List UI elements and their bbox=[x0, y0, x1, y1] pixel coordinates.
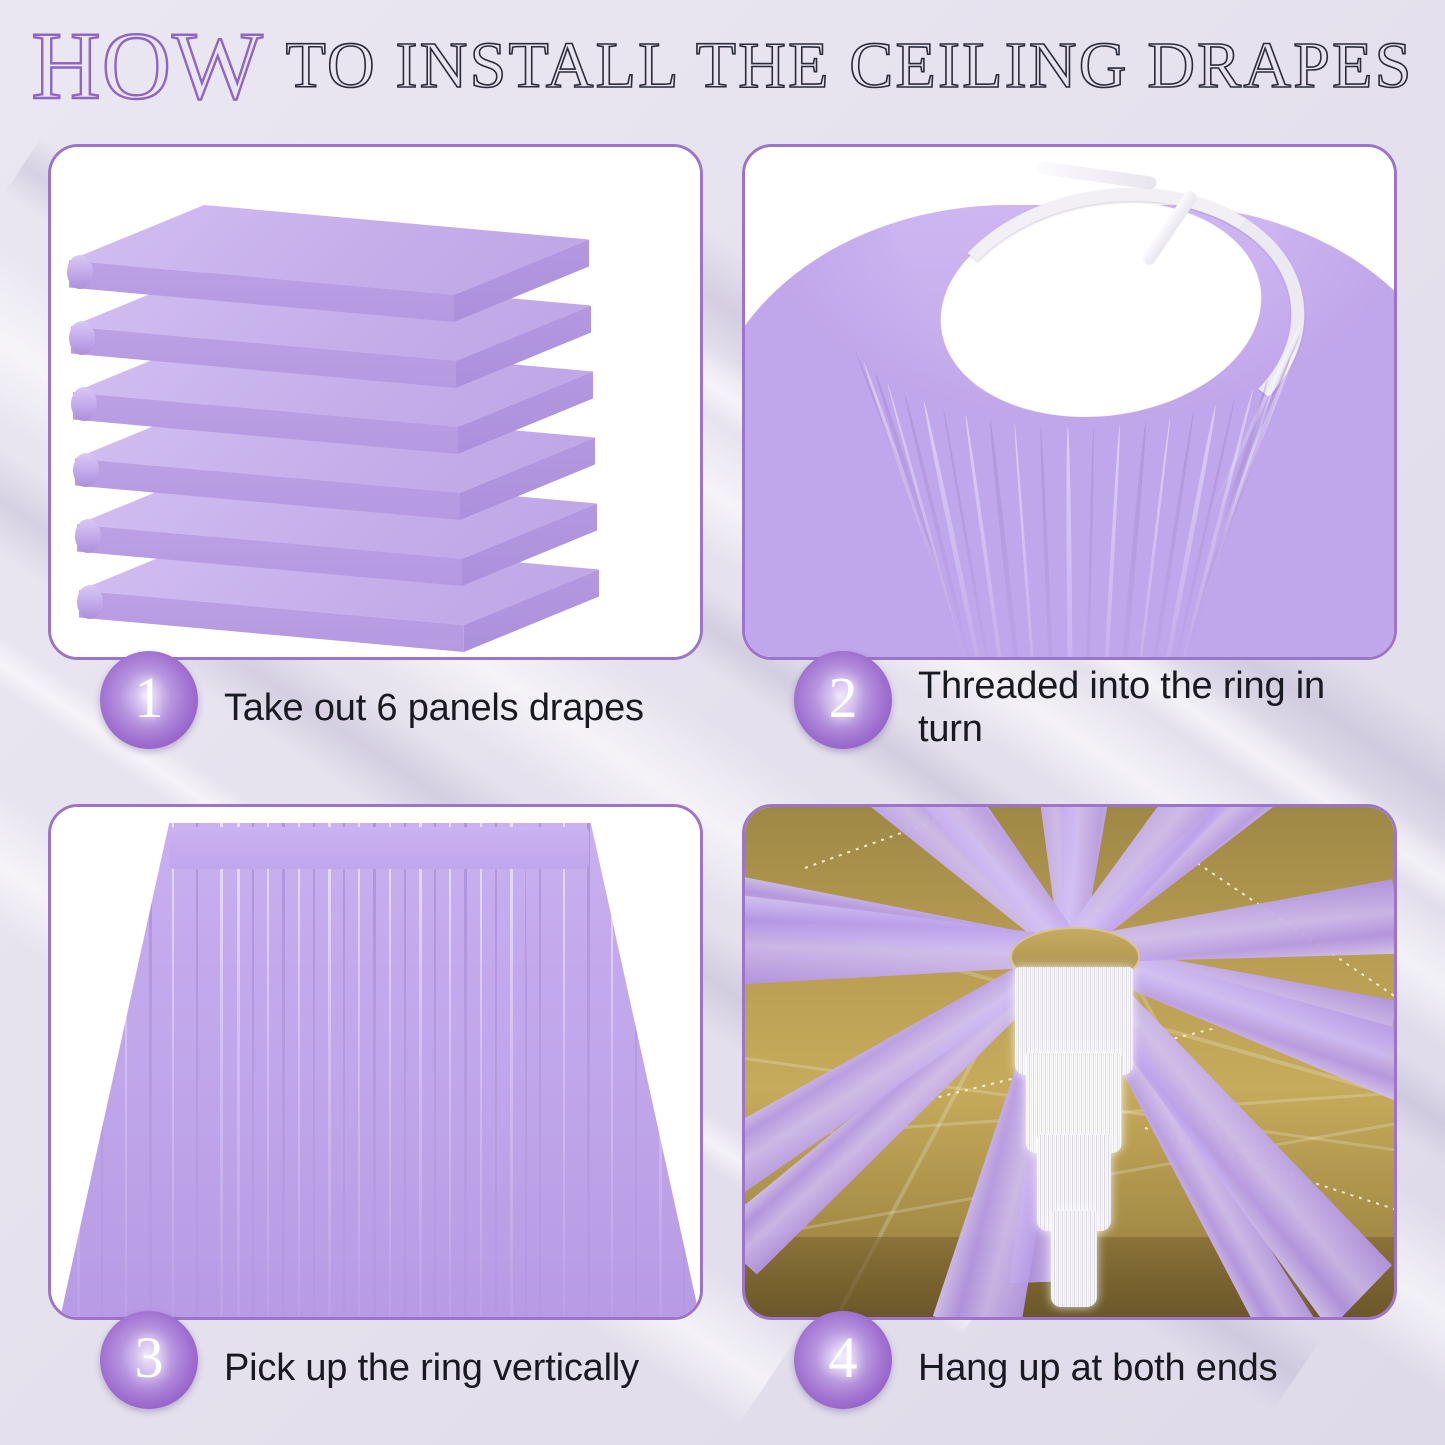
drape-pleat bbox=[419, 823, 422, 1317]
drape-pleat bbox=[313, 823, 315, 1317]
step-1-caption: Take out 6 panels drapes bbox=[224, 660, 644, 756]
title-rest-words: TO INSTALL THE CEILING DRAPES bbox=[286, 33, 1414, 99]
step-1-number: 1 bbox=[135, 669, 164, 732]
drape-pleat bbox=[510, 823, 513, 1317]
fold-edge bbox=[73, 453, 99, 487]
drape-pleat bbox=[495, 823, 497, 1317]
step-3-caption-row: 3 Pick up the ring vertically bbox=[48, 1320, 703, 1416]
drape-panel-slab bbox=[69, 205, 589, 355]
infographic-page: HOW TO INSTALL THE CEILING DRAPES 1 Take… bbox=[0, 0, 1445, 1445]
step-3: 3 Pick up the ring vertically bbox=[48, 804, 703, 1416]
step-3-image-card bbox=[48, 804, 703, 1320]
step-1: 1 Take out 6 panels drapes bbox=[48, 144, 703, 756]
fabric-threaded-on-white-ring-image bbox=[745, 147, 1394, 657]
drape-pleat bbox=[404, 823, 406, 1317]
step-1-image-card bbox=[48, 144, 703, 660]
stacked-folded-drape-panels-image bbox=[51, 147, 700, 657]
page-title: HOW TO INSTALL THE CEILING DRAPES bbox=[0, 18, 1445, 114]
installed-ceiling-drapes-with-chandelier-image bbox=[745, 807, 1394, 1317]
step-2-caption: Threaded into the ring in turn bbox=[918, 660, 1397, 756]
step-2-caption-row: 2 Threaded into the ring in turn bbox=[742, 660, 1397, 756]
step-4: 4 Hang up at both ends bbox=[742, 804, 1397, 1416]
fold-edge bbox=[67, 255, 93, 289]
step-3-caption: Pick up the ring vertically bbox=[224, 1320, 639, 1416]
drape-pleat bbox=[343, 823, 345, 1317]
step-1-badge: 1 bbox=[100, 651, 198, 749]
drape-pleat bbox=[220, 823, 223, 1317]
step-2-image-card bbox=[742, 144, 1397, 660]
drape-pleat bbox=[328, 823, 331, 1317]
drape-pleat bbox=[282, 823, 285, 1317]
step-3-number: 3 bbox=[135, 1329, 164, 1392]
drape-pleat bbox=[389, 823, 391, 1317]
title-highlight-word: HOW bbox=[31, 18, 285, 114]
step-4-caption: Hang up at both ends bbox=[918, 1320, 1277, 1416]
drape-pleat bbox=[172, 823, 174, 1317]
fold-edge bbox=[71, 387, 97, 421]
drape-pleat bbox=[196, 823, 198, 1317]
fold-edge bbox=[69, 321, 95, 355]
drape-pleat bbox=[237, 823, 240, 1317]
drape-pleat bbox=[587, 823, 590, 1317]
drape-pleat bbox=[267, 823, 269, 1317]
drape-pleat bbox=[358, 823, 360, 1317]
step-4-caption-row: 4 Hang up at both ends bbox=[742, 1320, 1397, 1416]
drape-pleat bbox=[464, 823, 467, 1317]
step-4-number: 4 bbox=[829, 1329, 858, 1392]
step-2-badge: 2 bbox=[794, 651, 892, 749]
chandelier-crystal-tier bbox=[1051, 1211, 1097, 1307]
step-2: 2 Threaded into the ring in turn bbox=[742, 144, 1397, 756]
drape-pleat bbox=[373, 823, 376, 1317]
step-1-caption-row: 1 Take out 6 panels drapes bbox=[48, 660, 703, 756]
drape-pleat bbox=[539, 823, 541, 1317]
step-2-number: 2 bbox=[829, 669, 858, 732]
crystal-chandelier bbox=[1010, 967, 1138, 1317]
ring-held-vertically-with-hanging-drapes-image bbox=[51, 807, 700, 1317]
drape-pleat bbox=[434, 823, 436, 1317]
drape-pleat bbox=[298, 823, 300, 1317]
step-4-badge: 4 bbox=[794, 1311, 892, 1409]
step-3-badge: 3 bbox=[100, 1311, 198, 1409]
drape-pleat bbox=[252, 823, 254, 1317]
fold-edge bbox=[75, 519, 101, 553]
step-4-image-card bbox=[742, 804, 1397, 1320]
fold-edge bbox=[77, 585, 103, 619]
drape-pleat bbox=[563, 823, 565, 1317]
drape-pleat bbox=[449, 823, 451, 1317]
steps-grid: 1 Take out 6 panels drapes bbox=[48, 144, 1397, 1416]
drape-pleat bbox=[480, 823, 482, 1317]
